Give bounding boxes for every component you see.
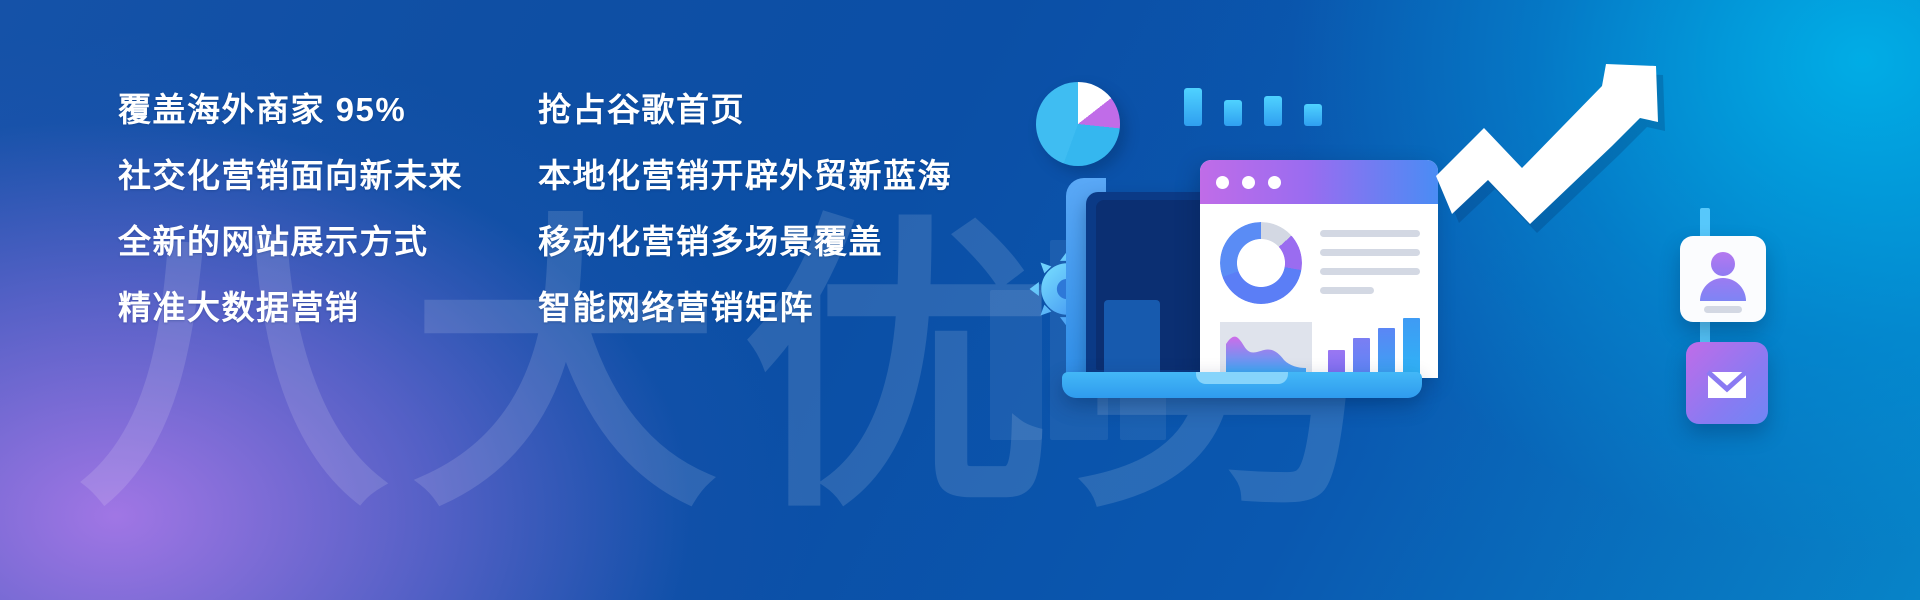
top-bar-mark	[1184, 88, 1202, 126]
advantage-row: 全新的网站展示方式 移动化营销多场景覆盖	[118, 206, 1018, 272]
window-dot-icon	[1242, 176, 1255, 189]
bar	[1403, 318, 1420, 376]
donut-chart-icon	[1220, 222, 1302, 304]
advantage-item-8: 智能网络营销矩阵	[538, 281, 1018, 329]
bar	[1353, 338, 1370, 376]
window-dot-icon	[1216, 176, 1229, 189]
advantage-item-2: 抢占谷歌首页	[538, 83, 1018, 131]
top-bar-mark	[1264, 96, 1282, 126]
user-badge-icon	[1680, 236, 1766, 322]
top-bar-mark	[1304, 104, 1322, 126]
bar	[1378, 328, 1395, 376]
dashboard-card	[1200, 160, 1438, 378]
marketing-illustration	[1000, 0, 1920, 600]
mail-badge-icon	[1686, 342, 1768, 424]
text-line	[1320, 249, 1420, 256]
text-line	[1320, 230, 1420, 237]
window-dot-icon	[1268, 176, 1281, 189]
advantages-list: 覆盖海外商家 95% 抢占谷歌首页 社交化营销面向新未来 本地化营销开辟外贸新蓝…	[118, 74, 1018, 338]
card-body	[1200, 204, 1438, 378]
advantage-item-3: 社交化营销面向新未来	[118, 149, 538, 197]
top-bar-mark	[1224, 100, 1242, 126]
text-line	[1320, 287, 1374, 294]
laptop-notch	[1196, 372, 1288, 384]
advantage-row: 覆盖海外商家 95% 抢占谷歌首页	[118, 74, 1018, 140]
advantage-item-6: 移动化营销多场景覆盖	[538, 215, 1018, 263]
bar-chart-icon	[1328, 316, 1424, 376]
text-line	[1320, 268, 1420, 275]
area-chart-icon	[1220, 322, 1312, 376]
pie-chart-icon	[1036, 82, 1120, 166]
promo-banner: 八大优势 覆盖海外商家 95% 抢占谷歌首页 社交化营销面向新未来 本地化营销开…	[0, 0, 1920, 600]
advantage-item-5: 全新的网站展示方式	[118, 215, 538, 263]
advantage-item-1: 覆盖海外商家 95%	[118, 83, 538, 131]
advantage-item-4: 本地化营销开辟外贸新蓝海	[538, 149, 1018, 197]
advantage-row: 精准大数据营销 智能网络营销矩阵	[118, 272, 1018, 338]
placeholder-text-lines	[1320, 230, 1420, 306]
avatar-head	[1711, 252, 1735, 276]
card-titlebar	[1200, 160, 1438, 204]
advantage-item-7: 精准大数据营销	[118, 281, 538, 329]
avatar-caption-line	[1704, 306, 1742, 313]
advantage-row: 社交化营销面向新未来 本地化营销开辟外贸新蓝海	[118, 140, 1018, 206]
avatar-body	[1700, 278, 1746, 301]
